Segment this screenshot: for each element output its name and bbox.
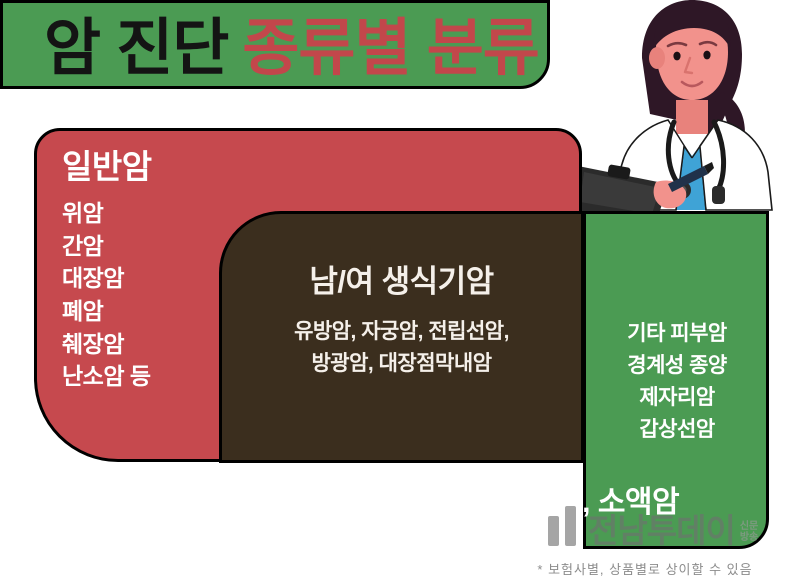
minor-cancer-heading: 유사암, 소액암 bbox=[440, 477, 740, 521]
list-item: 폐암 bbox=[62, 295, 151, 328]
doctor-illustration bbox=[572, 0, 800, 226]
footnote: * 보험사별, 상품별로 상이할 수 있음 bbox=[500, 559, 790, 578]
reproductive-cancer-heading: 남/여 생식기암 bbox=[219, 256, 584, 301]
general-cancer-heading: 일반암 bbox=[62, 140, 152, 188]
list-item: 대장암 bbox=[62, 262, 151, 295]
list-item: 위암 bbox=[62, 197, 151, 230]
minor-cancer-list: 기타 피부암 경계성 종양 제자리암 갑상선암 bbox=[585, 318, 769, 446]
list-item: 갑상선암 bbox=[585, 414, 769, 446]
page-title-black: 암 진단 bbox=[44, 14, 228, 83]
list-item: 제자리암 bbox=[585, 382, 769, 414]
reproductive-cancer-list: 유방암, 자궁암, 전립선암, 방광암, 대장점막내암 bbox=[219, 316, 584, 380]
list-item: 난소암 등 bbox=[62, 360, 151, 393]
list-item: 췌장암 bbox=[62, 328, 151, 361]
list-item: 간암 bbox=[62, 230, 151, 263]
general-cancer-list: 위암 간암 대장암 폐암 췌장암 난소암 등 bbox=[62, 197, 151, 393]
infographic-canvas: 암 진단종류별 분류 bbox=[0, 0, 800, 586]
list-item: 경계성 종양 bbox=[585, 350, 769, 382]
page-title: 암 진단종류별 분류 bbox=[44, 18, 539, 80]
list-item: 기타 피부암 bbox=[585, 318, 769, 350]
page-title-red: 종류별 분류 bbox=[242, 14, 538, 83]
list-item: 방광암, 대장점막내암 bbox=[219, 348, 584, 380]
list-item: 유방암, 자궁암, 전립선암, bbox=[219, 316, 584, 348]
